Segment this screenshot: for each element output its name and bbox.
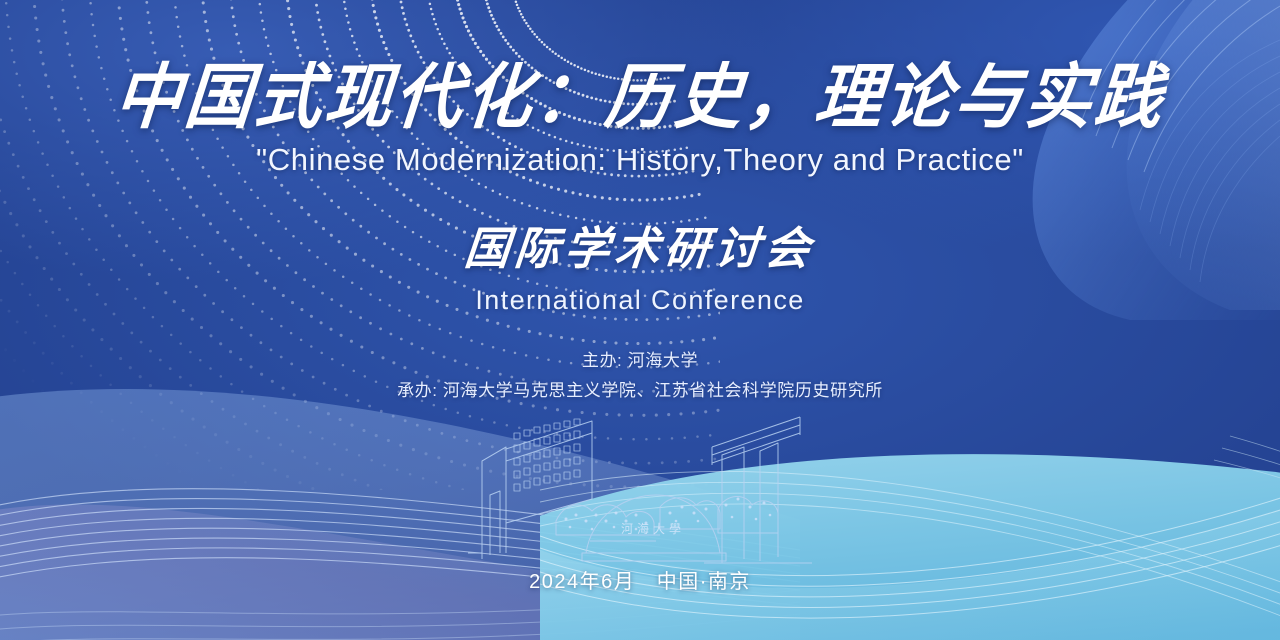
date-location-line: 2024年6月 中国·南京 xyxy=(529,565,751,594)
conference-poster: 河海大學 中国式现代化：历史，理论与实践 "Chinese Modernizat… xyxy=(0,0,1280,640)
poster-content: 中国式现代化：历史，理论与实践 "Chinese Modernization: … xyxy=(0,0,1280,640)
host-line: 主办: 河海大学 xyxy=(397,346,883,376)
subtitle-chinese: 国际学术研讨会 xyxy=(462,212,818,277)
main-title-chinese: 中国式现代化：历史，理论与实践 xyxy=(112,60,1169,135)
main-title-english: "Chinese Modernization: History,Theory a… xyxy=(256,142,1024,178)
subtitle-english: International Conference xyxy=(475,285,804,316)
organizer-block: 主办: 河海大学 承办: 河海大学马克思主义学院、江苏省社会科学院历史研究所 xyxy=(397,346,883,406)
co-host-line: 承办: 河海大学马克思主义学院、江苏省社会科学院历史研究所 xyxy=(397,376,883,406)
